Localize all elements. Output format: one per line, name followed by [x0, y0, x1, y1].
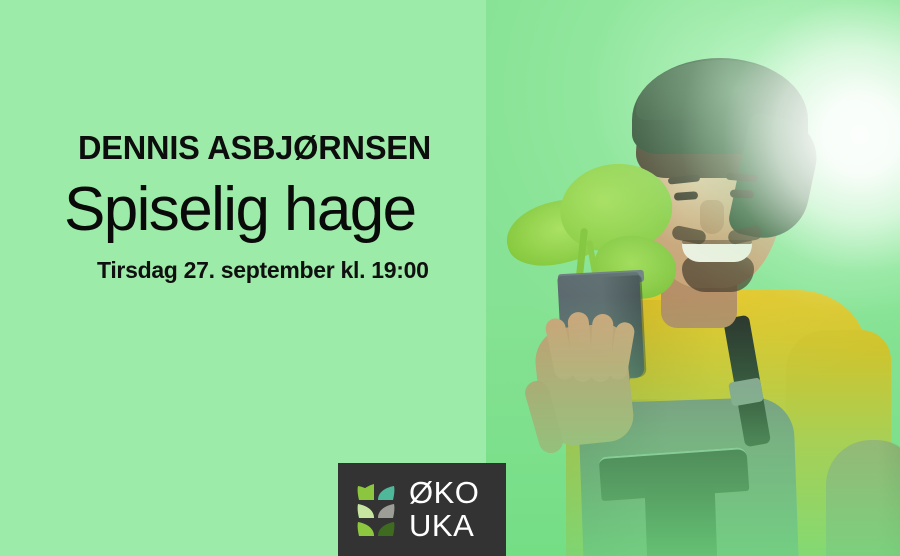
event-datetime: Tirsdag 27. september kl. 19:00 — [97, 259, 477, 282]
eye-left — [674, 191, 698, 201]
cap-highlight — [636, 60, 804, 120]
wheat-leaf-mark-icon — [356, 482, 396, 538]
logo-line-oko: ØKO — [409, 477, 479, 510]
event-poster: DENNIS ASBJØRNSEN Spiselig hage Tirsdag … — [0, 0, 900, 556]
page-title: Spiselig hage — [64, 178, 484, 241]
right-arm-shadow — [878, 440, 900, 556]
subject-photo — [486, 0, 900, 556]
speaker-name: DENNIS ASBJØRNSEN — [78, 131, 433, 164]
logo-line-uka: UKA — [409, 510, 479, 543]
eye-right — [730, 189, 754, 198]
overalls-pocket — [645, 485, 718, 556]
logo-wordmark: ØKO UKA — [409, 477, 479, 543]
oko-uka-logo: ØKO UKA — [338, 463, 506, 556]
nose — [700, 200, 724, 234]
